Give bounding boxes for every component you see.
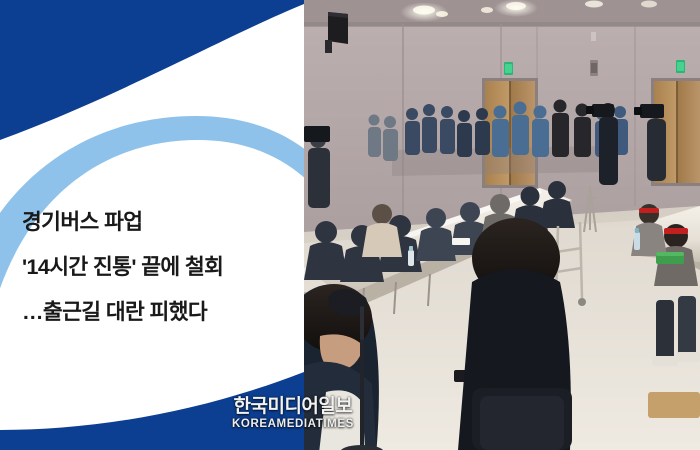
headline-line-2: '14시간 진통' 끝에 철회 [22, 245, 294, 290]
conference-room-illustration [304, 0, 700, 450]
headline-line-1: 경기버스 파업 [22, 200, 294, 245]
headline-line-3: …출근길 대란 피했다 [22, 290, 294, 335]
headline: 경기버스 파업 '14시간 진통' 끝에 철회 …출근길 대란 피했다 [22, 200, 294, 335]
news-thumbnail-card: 경기버스 파업 '14시간 진통' 끝에 철회 …출근길 대란 피했다 한국미디… [0, 0, 700, 450]
foreground-attendee [458, 218, 572, 450]
watermark-logo: 한국미디어일보 KOREAMEDIATIMES [232, 397, 354, 431]
news-photo [304, 0, 700, 450]
watermark-korean: 한국미디어일보 [232, 397, 354, 416]
watermark-english: KOREAMEDIATIMES [232, 419, 354, 431]
